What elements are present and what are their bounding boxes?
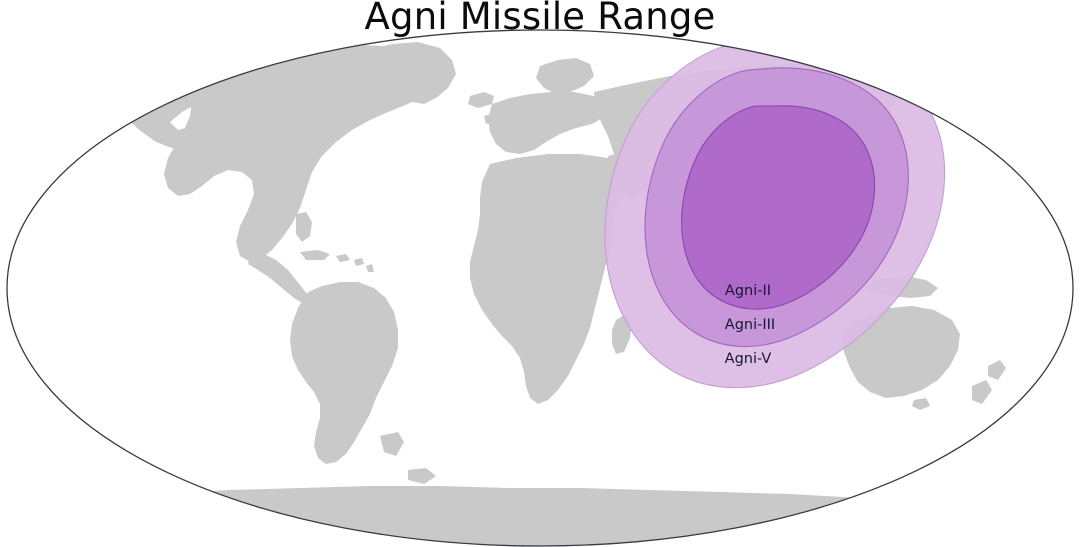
map-figure: Agni Missile Range Agni-II Agni-III Agni… xyxy=(0,0,1080,547)
world-map-canvas xyxy=(0,0,1080,547)
